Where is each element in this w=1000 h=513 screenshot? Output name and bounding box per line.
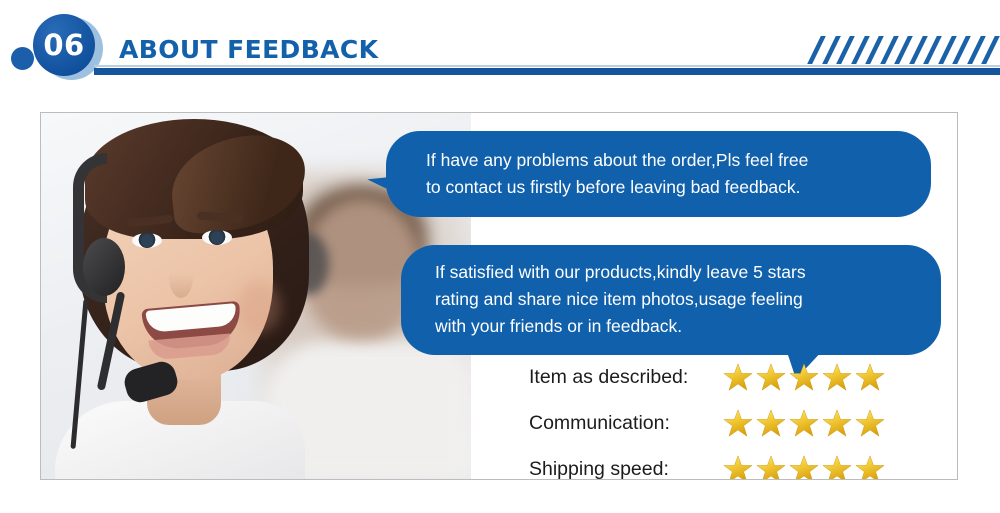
star-icon (822, 409, 852, 438)
star-icon (723, 455, 753, 480)
star-icon (855, 409, 885, 438)
headset-earcup-icon (83, 238, 125, 296)
speech-bubble-tail (367, 177, 395, 196)
speech-bubble-order-problem: If have any problems about the order,Pls… (386, 131, 931, 217)
rating-row: Shipping speed: (529, 449, 949, 480)
agent-cheek (237, 281, 281, 333)
section-number-badge: 06 (33, 14, 95, 76)
rating-row: Communication: (529, 403, 949, 444)
star-icon (789, 363, 819, 392)
star-rating (723, 363, 885, 392)
feedback-card: If have any problems about the order,Pls… (40, 112, 958, 480)
rating-label: Communication: (529, 412, 719, 435)
speech-bubble-text: If satisfied with our products,kindly le… (435, 259, 917, 340)
rating-row: Item as described: (529, 357, 949, 398)
header-rule-bold (94, 68, 1000, 75)
star-icon (723, 363, 753, 392)
bullet-dot-icon (11, 47, 34, 70)
speech-bubble-five-stars: If satisfied with our products,kindly le… (401, 245, 941, 355)
star-icon (756, 409, 786, 438)
star-icon (789, 409, 819, 438)
rating-label: Item as described: (529, 366, 719, 389)
speech-bubble-text: If have any problems about the order,Pls… (426, 147, 905, 201)
star-icon (756, 363, 786, 392)
page-header: 06 ABOUT FEEDBACK (0, 0, 1000, 96)
agent-pupil-left (141, 235, 153, 247)
header-rule-light (94, 65, 1000, 67)
star-icon (789, 455, 819, 480)
rating-list: Item as described:Communication:Shipping… (529, 357, 949, 480)
star-icon (723, 409, 753, 438)
star-icon (756, 455, 786, 480)
star-rating (723, 455, 885, 480)
agent-nose (169, 256, 193, 298)
agent-teeth (146, 303, 238, 333)
agent-pupil-right (211, 232, 223, 244)
star-icon (855, 455, 885, 480)
diagonal-stripes-decoration (800, 36, 1000, 64)
section-number-label: 06 (33, 14, 95, 76)
rating-label: Shipping speed: (529, 458, 719, 480)
page-title: ABOUT FEEDBACK (119, 35, 378, 64)
star-rating (723, 409, 885, 438)
star-icon (822, 363, 852, 392)
star-icon (822, 455, 852, 480)
star-icon (855, 363, 885, 392)
